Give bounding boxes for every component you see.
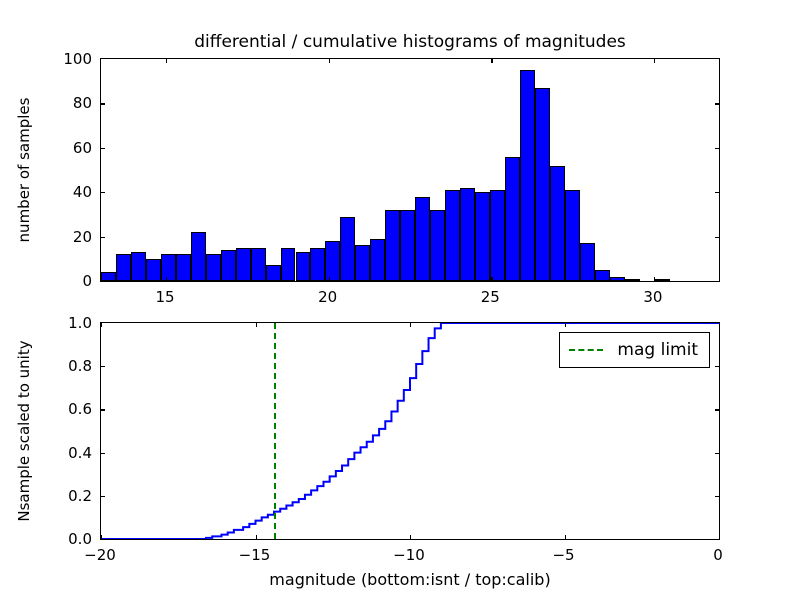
- y-tick-mark: [101, 103, 105, 104]
- y-tick-mark: [715, 366, 719, 367]
- x-tick-label: 15: [156, 288, 175, 306]
- histogram-bar: [296, 252, 311, 281]
- differential-histogram-axes: [100, 58, 720, 282]
- y-tick-mark: [715, 237, 719, 238]
- y-tick-mark: [101, 237, 105, 238]
- histogram-bar: [595, 270, 610, 281]
- x-tick-mark: [256, 323, 257, 327]
- y-tick-label: 100: [48, 50, 92, 68]
- x-tick-label: −10: [393, 546, 425, 564]
- y-tick-mark: [101, 192, 105, 193]
- x-tick-mark: [654, 59, 655, 63]
- mag-limit-dash-icon: [569, 349, 603, 351]
- legend-label-mag-limit: mag limit: [617, 340, 698, 360]
- histogram-bar: [505, 157, 520, 281]
- figure-canvas: differential / cumulative histograms of …: [0, 0, 800, 600]
- histogram-bar: [460, 188, 475, 281]
- y-tick-mark: [715, 103, 719, 104]
- x-tick-mark: [410, 323, 411, 327]
- x-tick-label: −20: [84, 546, 116, 564]
- histogram-bar: [490, 190, 505, 281]
- histogram-bar: [116, 254, 131, 281]
- y-tick-mark: [101, 409, 105, 410]
- y-tick-label: 0: [48, 272, 92, 290]
- x-tick-label: 25: [481, 288, 500, 306]
- x-tick-mark: [101, 323, 102, 327]
- y-tick-label: 0.4: [40, 444, 92, 462]
- y-tick-mark: [715, 409, 719, 410]
- y-tick-mark: [101, 366, 105, 367]
- x-tick-label: 0: [713, 546, 723, 564]
- x-tick-label: 20: [318, 288, 337, 306]
- chart-title: differential / cumulative histograms of …: [100, 32, 720, 52]
- y-tick-mark: [715, 496, 719, 497]
- histogram-bar: [176, 254, 191, 281]
- y-tick-label: 80: [48, 94, 92, 112]
- x-tick-mark: [256, 535, 257, 539]
- histogram-bar: [191, 232, 206, 281]
- y-tick-mark: [101, 148, 105, 149]
- legend[interactable]: mag limit: [559, 332, 710, 368]
- bottom-y-axis-title: Nsample scaled to unity: [15, 340, 33, 521]
- y-tick-mark: [715, 148, 719, 149]
- y-tick-label: 0.8: [40, 357, 92, 375]
- bottom-x-axis-title: magnitude (bottom:isnt / top:calib): [269, 570, 550, 589]
- histogram-bar: [370, 239, 385, 281]
- histogram-bar: [400, 210, 415, 281]
- x-tick-mark: [166, 277, 167, 281]
- histogram-bar: [625, 279, 640, 281]
- top-y-axis-title: number of samples: [15, 98, 33, 243]
- histogram-bar: [565, 190, 580, 281]
- histogram-bar: [266, 265, 281, 281]
- y-tick-label: 1.0: [40, 314, 92, 332]
- y-tick-label: 0.6: [40, 400, 92, 418]
- histogram-bar: [385, 210, 400, 281]
- x-tick-label: 30: [643, 288, 662, 306]
- histogram-bar: [206, 254, 221, 281]
- histogram-bar: [131, 252, 146, 281]
- cumulative-histogram-axes: mag limit: [100, 322, 720, 540]
- y-tick-label: 60: [48, 139, 92, 157]
- histogram-bar: [655, 279, 670, 281]
- histogram-bar: [430, 210, 445, 281]
- x-tick-mark: [101, 535, 102, 539]
- histogram-bar: [610, 277, 625, 281]
- x-tick-mark: [491, 277, 492, 281]
- x-tick-mark: [166, 59, 167, 63]
- histogram-bar: [550, 166, 565, 281]
- histogram-bar: [251, 248, 266, 281]
- y-tick-mark: [101, 453, 105, 454]
- y-tick-label: 0.0: [40, 530, 92, 548]
- y-tick-mark: [101, 496, 105, 497]
- histogram-bar: [535, 88, 550, 281]
- x-tick-mark: [719, 323, 720, 327]
- y-tick-mark: [715, 192, 719, 193]
- x-tick-mark: [565, 323, 566, 327]
- x-tick-mark: [654, 277, 655, 281]
- x-tick-mark: [719, 535, 720, 539]
- y-tick-label: 0.2: [40, 487, 92, 505]
- histogram-bar: [520, 70, 535, 281]
- x-tick-label: −15: [239, 546, 271, 564]
- histogram-bar: [355, 245, 370, 281]
- x-tick-mark: [329, 277, 330, 281]
- y-tick-label: 40: [48, 183, 92, 201]
- mag-limit-vline: [274, 323, 276, 539]
- x-tick-mark: [410, 535, 411, 539]
- histogram-bar: [325, 241, 340, 281]
- x-tick-mark: [565, 535, 566, 539]
- x-tick-mark: [491, 59, 492, 63]
- y-tick-mark: [715, 453, 719, 454]
- differential-histogram-plot-area: [101, 59, 719, 281]
- histogram-bar: [101, 272, 116, 281]
- histogram-bar: [281, 248, 296, 281]
- y-tick-label: 20: [48, 228, 92, 246]
- histogram-bar: [221, 250, 236, 281]
- histogram-bar: [310, 248, 325, 281]
- histogram-bar: [415, 197, 430, 281]
- histogram-bar: [161, 254, 176, 281]
- histogram-bar: [580, 243, 595, 281]
- histogram-bar: [146, 259, 161, 281]
- histogram-bar: [475, 192, 490, 281]
- x-tick-label: −5: [552, 546, 574, 564]
- histogram-bar: [236, 248, 251, 281]
- histogram-bar: [340, 217, 355, 281]
- histogram-bar: [445, 190, 460, 281]
- x-tick-mark: [329, 59, 330, 63]
